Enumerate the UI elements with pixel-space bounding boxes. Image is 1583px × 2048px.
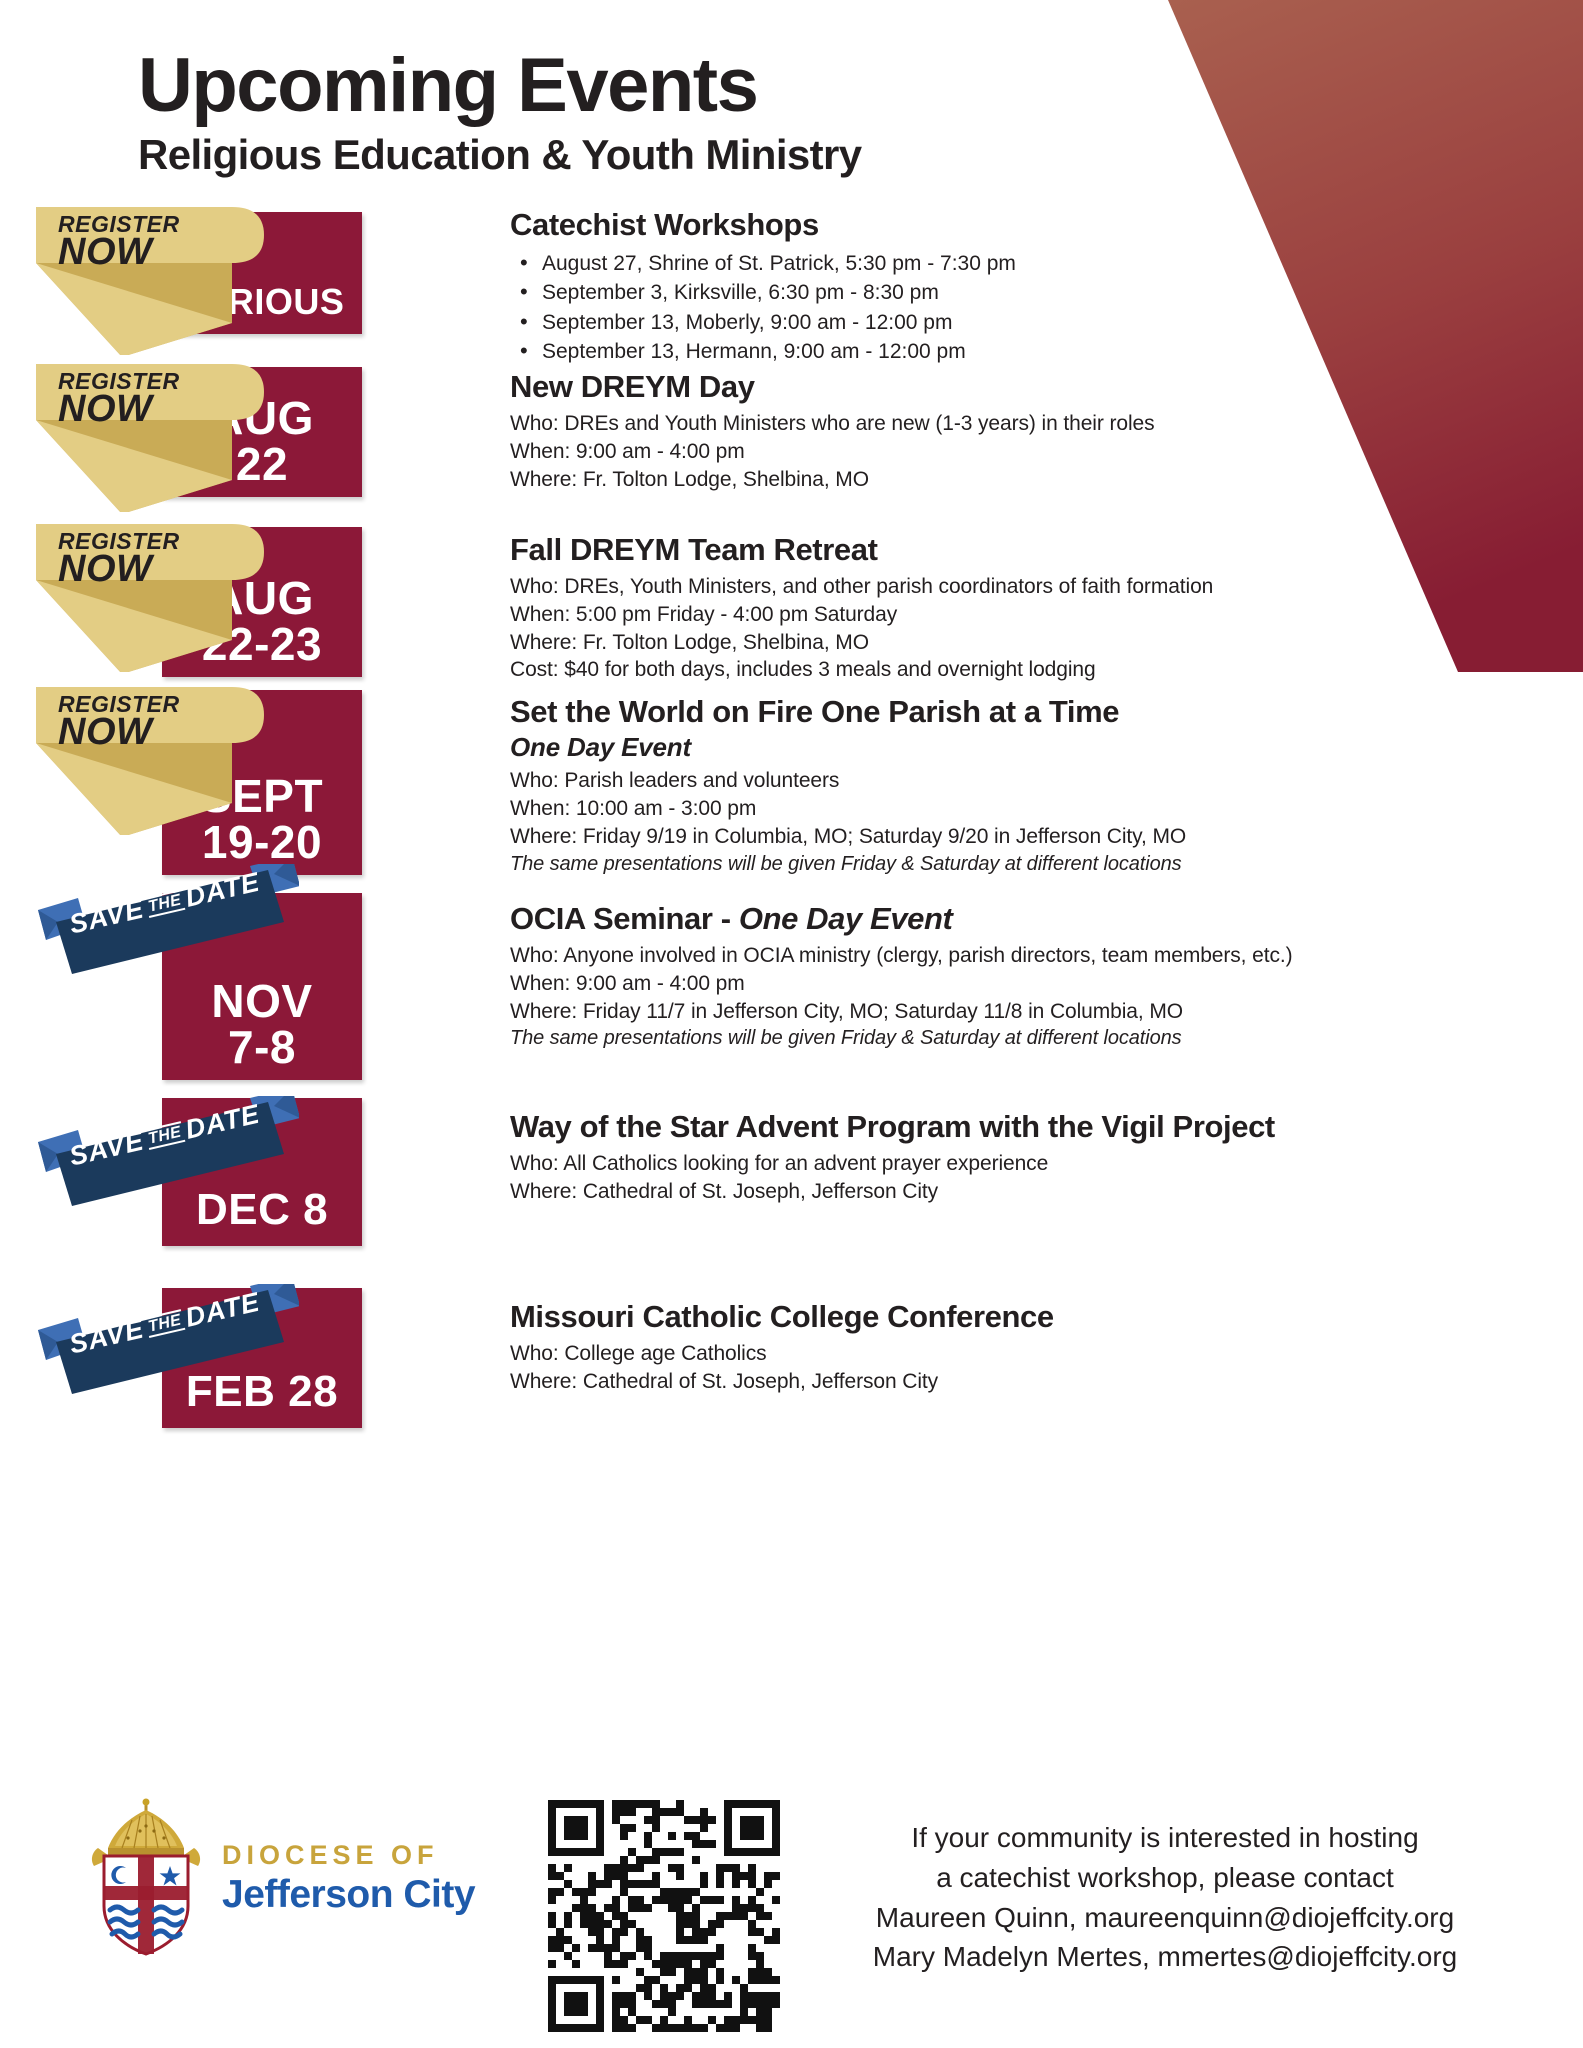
diocese-crest-icon [88, 1798, 204, 1958]
event-bullet-item: September 13, Moberly, 9:00 am - 12:00 p… [510, 308, 1016, 337]
event-title: Catechist Workshops [510, 208, 1016, 243]
contact-line-4[interactable]: Mary Madelyn Mertes, mmertes@diojeffcity… [800, 1937, 1530, 1977]
event-detail-line: Who: DREs and Youth Ministers who are ne… [510, 410, 1155, 438]
flyer-page: Upcoming Events Religious Education & Yo… [0, 0, 1583, 2048]
event-title: Set the World on Fire One Parish at a Ti… [510, 695, 1186, 730]
register-ribbon-icon [36, 362, 286, 512]
contact-line-3[interactable]: Maureen Quinn, maureenquinn@diojeffcity.… [800, 1898, 1530, 1938]
save-the-date-ribbon-icon [34, 864, 299, 984]
register-now-badge: REGISTERNOW [36, 362, 286, 512]
event-details: Way of the Star Advent Program with the … [510, 1110, 1275, 1206]
contact-line-1: If your community is interested in hosti… [800, 1818, 1530, 1858]
register-now-badge: REGISTERNOW [36, 205, 286, 355]
event-details: Missouri Catholic College ConferenceWho:… [510, 1300, 1054, 1396]
contact-line-2: a catechist workshop, please contact [800, 1858, 1530, 1898]
event-details: New DREYM DayWho: DREs and Youth Ministe… [510, 370, 1155, 493]
event-detail-lines: Who: DREs, Youth Ministers, and other pa… [510, 573, 1213, 685]
event-detail-line: Where: Fr. Tolton Lodge, Shelbina, MO [510, 629, 1213, 657]
event-date-text: 7-8 [228, 1024, 296, 1070]
register-now-badge: REGISTERNOW [36, 522, 286, 672]
qr-code[interactable] [548, 1800, 780, 2032]
event-bullet-list: August 27, Shrine of St. Patrick, 5:30 p… [510, 249, 1016, 367]
register-now-badge: REGISTERNOW [36, 685, 286, 835]
event-note: The same presentations will be given Fri… [510, 851, 1186, 878]
event-detail-line: When: 5:00 pm Friday - 4:00 pm Saturday [510, 601, 1213, 629]
event-title-italic: One Day Event [739, 901, 953, 936]
page-subtitle: Religious Education & Youth Ministry [138, 132, 862, 178]
page-header: Upcoming Events Religious Education & Yo… [138, 46, 862, 178]
event-detail-line: Where: Friday 11/7 in Jefferson City, MO… [510, 998, 1293, 1026]
event-detail-lines: Who: All Catholics looking for an advent… [510, 1150, 1275, 1206]
event-detail-line: Who: DREs, Youth Ministers, and other pa… [510, 573, 1213, 601]
logo-line-diocese-of: DIOCESE OF [222, 1840, 475, 1871]
event-detail-lines: Who: DREs and Youth Ministers who are ne… [510, 410, 1155, 494]
event-detail-lines: Who: College age CatholicsWhere: Cathedr… [510, 1340, 1054, 1396]
save-the-date-ribbon-icon [34, 1096, 299, 1216]
event-detail-line: Where: Fr. Tolton Lodge, Shelbina, MO [510, 466, 1155, 494]
event-detail-line: Who: All Catholics looking for an advent… [510, 1150, 1275, 1178]
event-detail-lines: Who: Parish leaders and volunteersWhen: … [510, 767, 1186, 851]
event-bullet-item: August 27, Shrine of St. Patrick, 5:30 p… [510, 249, 1016, 278]
event-details: Set the World on Fire One Parish at a Ti… [510, 695, 1186, 877]
event-subtitle: One Day Event [510, 732, 1186, 763]
event-detail-line: Where: Cathedral of St. Joseph, Jefferso… [510, 1178, 1275, 1206]
register-ribbon-icon [36, 522, 286, 672]
event-title: OCIA Seminar - One Day Event [510, 902, 1293, 937]
logo-line-jefferson-city: Jefferson City [222, 1873, 475, 1917]
diocese-logo: DIOCESE OF Jefferson City [88, 1798, 475, 1958]
event-title: Missouri Catholic College Conference [510, 1300, 1054, 1335]
event-note: The same presentations will be given Fri… [510, 1025, 1293, 1052]
event-detail-line: When: 10:00 am - 3:00 pm [510, 795, 1186, 823]
save-the-date-badge: SAVETHEDATE [34, 1096, 299, 1216]
event-detail-line: Who: Anyone involved in OCIA ministry (c… [510, 942, 1293, 970]
page-title: Upcoming Events [138, 46, 862, 126]
register-ribbon-icon [36, 685, 286, 835]
event-detail-line: When: 9:00 am - 4:00 pm [510, 970, 1293, 998]
event-title: Fall DREYM Team Retreat [510, 533, 1213, 568]
event-details: Fall DREYM Team RetreatWho: DREs, Youth … [510, 533, 1213, 684]
event-bullet-item: September 13, Hermann, 9:00 am - 12:00 p… [510, 337, 1016, 366]
event-detail-line: Who: College age Catholics [510, 1340, 1054, 1368]
event-details: OCIA Seminar - One Day EventWho: Anyone … [510, 902, 1293, 1052]
page-footer: DIOCESE OF Jefferson City If your commun… [0, 1770, 1583, 2048]
contact-block: If your community is interested in hosti… [800, 1818, 1530, 1977]
event-title: Way of the Star Advent Program with the … [510, 1110, 1275, 1145]
event-bullet-item: September 3, Kirksville, 6:30 pm - 8:30 … [510, 278, 1016, 307]
save-the-date-badge: SAVETHEDATE [34, 1284, 299, 1404]
event-detail-line: Cost: $40 for both days, includes 3 meal… [510, 656, 1213, 684]
register-ribbon-icon [36, 205, 286, 355]
event-title: New DREYM Day [510, 370, 1155, 405]
event-detail-line: Who: Parish leaders and volunteers [510, 767, 1186, 795]
save-the-date-ribbon-icon [34, 1284, 299, 1404]
save-the-date-badge: SAVETHEDATE [34, 864, 299, 984]
event-detail-line: Where: Cathedral of St. Joseph, Jefferso… [510, 1368, 1054, 1396]
event-detail-lines: Who: Anyone involved in OCIA ministry (c… [510, 942, 1293, 1026]
event-title-main: OCIA Seminar - [510, 901, 739, 936]
event-date-text: NOV [211, 978, 312, 1024]
event-detail-line: Where: Friday 9/19 in Columbia, MO; Satu… [510, 823, 1186, 851]
event-detail-line: When: 9:00 am - 4:00 pm [510, 438, 1155, 466]
event-details: Catechist WorkshopsAugust 27, Shrine of … [510, 208, 1016, 366]
